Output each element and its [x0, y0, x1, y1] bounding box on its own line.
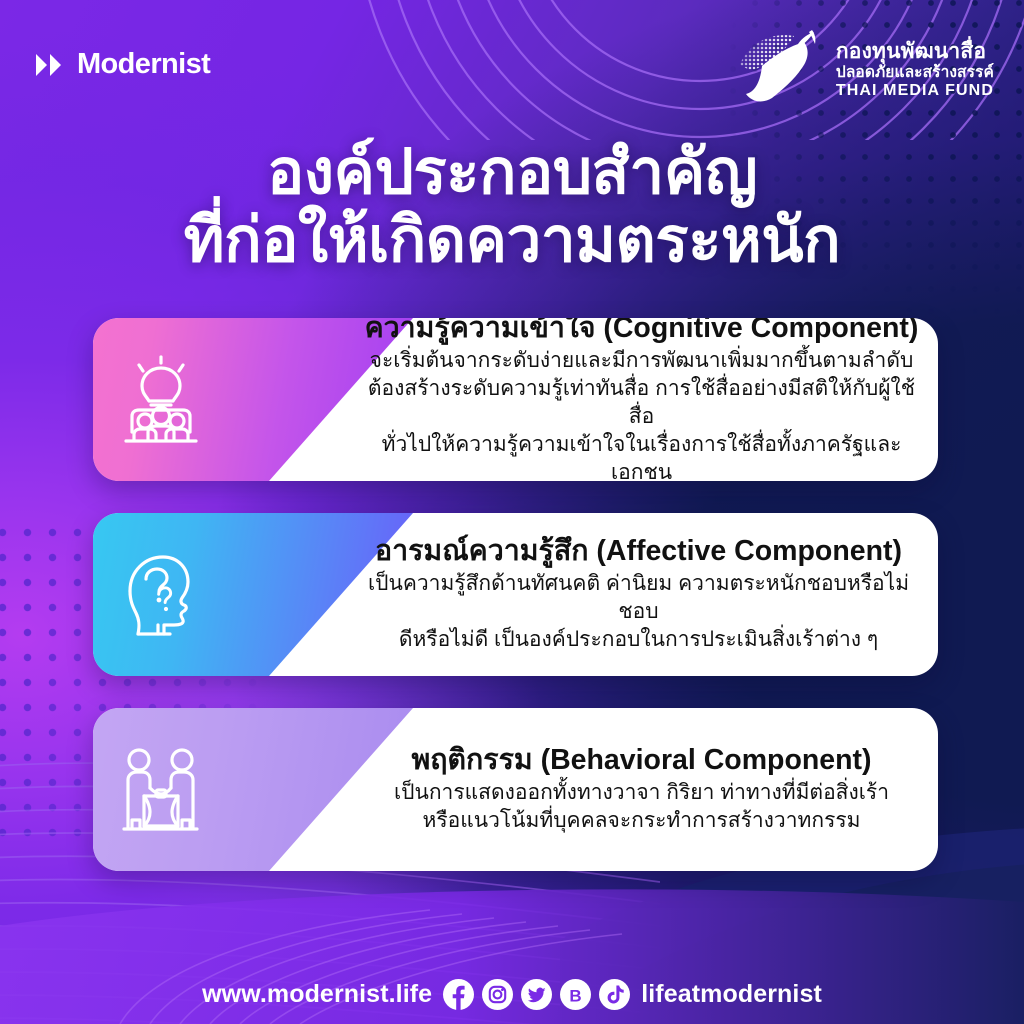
tmf-name-line2: ปลอดภัยและสร้างสรรค์	[836, 64, 994, 81]
modernist-arrow-mark-icon	[36, 52, 70, 78]
tiktok-icon[interactable]	[599, 979, 630, 1010]
card-body: อารมณ์ความรู้สึก (Affective Component) เ…	[355, 513, 922, 676]
lightbulb-team-icon	[118, 354, 204, 446]
card-heading: ความรู้ความเข้าใจ (Cognitive Component)	[365, 318, 919, 345]
card-body: พฤติกรรม (Behavioral Component) เป็นการแ…	[361, 708, 922, 871]
head-question-icon	[118, 549, 204, 641]
social-handle[interactable]: lifeatmodernist	[641, 980, 822, 1009]
social-icon-row: B	[443, 979, 630, 1010]
facebook-icon[interactable]	[443, 979, 474, 1010]
component-card-list: ความรู้ความเข้าใจ (Cognitive Component) …	[93, 318, 938, 903]
card-desc-line: เป็นความรู้สึกด้านทัศนคติ ค่านิยม ความตร…	[355, 570, 922, 626]
card-heading: พฤติกรรม (Behavioral Component)	[411, 744, 871, 776]
two-people-banner-icon	[118, 744, 204, 836]
modernist-logo-text: Modernist	[77, 48, 210, 81]
title-line-1: องค์ประกอบสำคัญ	[0, 142, 1024, 204]
card-affective-component[interactable]: อารมณ์ความรู้สึก (Affective Component) เ…	[93, 513, 938, 676]
twitter-icon[interactable]	[521, 979, 552, 1010]
instagram-icon[interactable]	[482, 979, 513, 1010]
card-description: เป็นความรู้สึกด้านทัศนคติ ค่านิยม ความตร…	[355, 570, 922, 654]
card-behavioral-component[interactable]: พฤติกรรม (Behavioral Component) เป็นการแ…	[93, 708, 938, 871]
tmf-name-line1: กองทุนพัฒนาสื่อ	[836, 40, 986, 63]
website-url[interactable]: www.modernist.life	[202, 980, 432, 1009]
title-line-2: ที่ก่อให้เกิดความตระหนัก	[0, 210, 1024, 272]
page-title: องค์ประกอบสำคัญ ที่ก่อให้เกิดความตระหนัก	[0, 142, 1024, 272]
tmf-name-en: THAI MEDIA FUND	[836, 82, 994, 99]
card-body: ความรู้ความเข้าใจ (Cognitive Component) …	[361, 318, 922, 481]
thai-media-fund-text: กองทุนพัฒนาสื่อ ปลอดภัยและสร้างสรรค์ THA…	[836, 36, 994, 99]
thai-media-fund-logo[interactable]: กองทุนพัฒนาสื่อ ปลอดภัยและสร้างสรรค์ THA…	[732, 26, 994, 110]
poster-canvas: Modernist	[0, 0, 1024, 1024]
footer-bar: www.modernist.life	[0, 979, 1024, 1010]
card-cognitive-component[interactable]: ความรู้ความเข้าใจ (Cognitive Component) …	[93, 318, 938, 481]
card-desc-line: ดีหรือไม่ดี เป็นองค์ประกอบในการประเมินสิ…	[355, 626, 922, 654]
card-desc-line: จะเริ่มต้นจากระดับง่ายและมีการพัฒนาเพิ่ม…	[361, 347, 922, 375]
card-description: เป็นการแสดงออกทั้งทางวาจา กิริยา ท่าทางท…	[394, 779, 889, 835]
card-heading: อารมณ์ความรู้สึก (Affective Component)	[375, 535, 902, 567]
card-description: จะเริ่มต้นจากระดับง่ายและมีการพัฒนาเพิ่ม…	[361, 347, 922, 481]
svg-text:B: B	[570, 986, 582, 1005]
card-desc-line: เป็นการแสดงออกทั้งทางวาจา กิริยา ท่าทางท…	[394, 779, 889, 807]
modernist-logo[interactable]: Modernist	[36, 48, 210, 81]
card-desc-line: หรือแนวโน้มที่บุคคลจะกระทำการสร้างวาทกรร…	[394, 807, 889, 835]
dove-icon	[732, 26, 828, 110]
blockdit-icon[interactable]: B	[560, 979, 591, 1010]
card-desc-line: ต้องสร้างระดับความรู้เท่าทันสื่อ การใช้ส…	[361, 375, 922, 431]
card-desc-line: ทั่วไปให้ความรู้ความเข้าใจในเรื่องการใช้…	[361, 431, 922, 481]
